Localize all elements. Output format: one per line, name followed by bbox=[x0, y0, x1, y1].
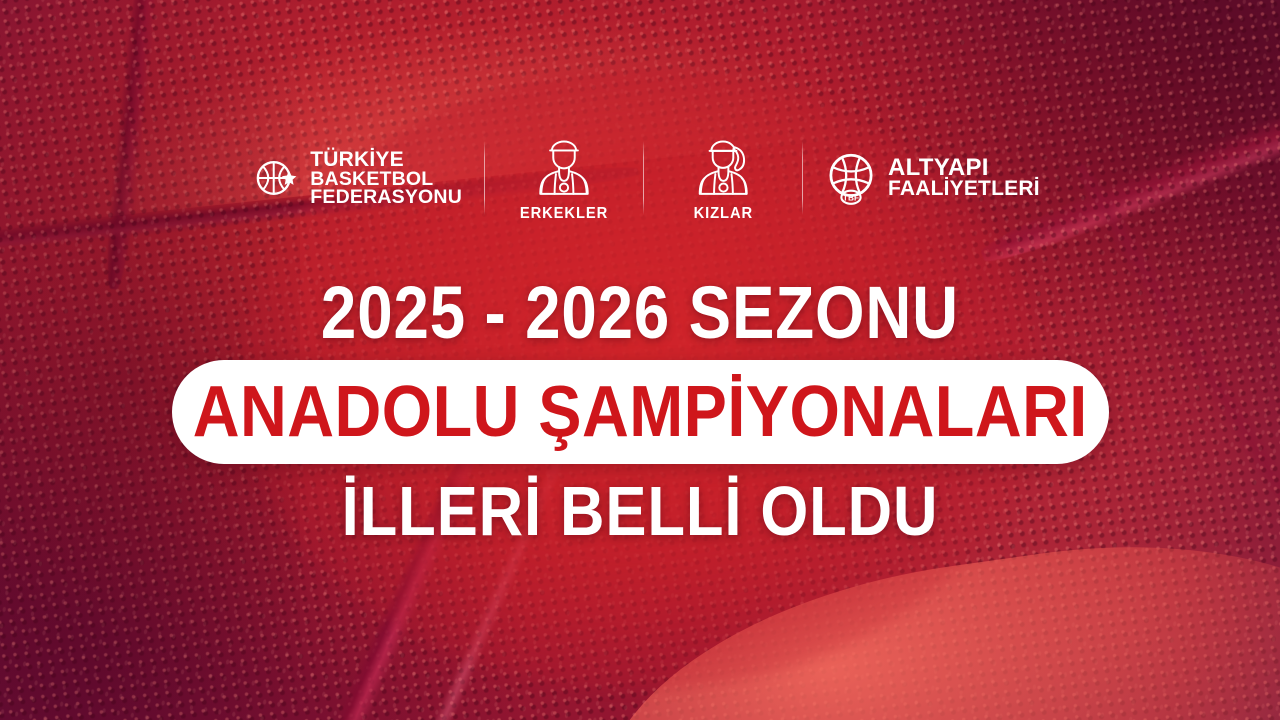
subtitle: İLLERİ BELLİ OLDU bbox=[342, 476, 939, 546]
category-label-erkekler: ERKEKLER bbox=[520, 205, 608, 223]
girl-player-icon bbox=[688, 133, 758, 201]
category-erkekler[interactable]: ERKEKLER bbox=[485, 133, 643, 223]
federation-line-1: TÜRKİYE bbox=[310, 150, 462, 170]
program-line-2: FAALİYETLERİ bbox=[888, 179, 1040, 198]
federation-line-3: FEDERASYONU bbox=[310, 188, 462, 206]
event-title-pill: ANADOLU ŞAMPİYONALARI bbox=[172, 360, 1109, 464]
tbf-crescent-basketball-logo-icon bbox=[242, 149, 300, 207]
promo-banner: TÜRKİYE BASKETBOL FEDERASYONU bbox=[0, 0, 1280, 720]
program-logo-lockup: TBF ALTYAPI FAALİYETLERİ bbox=[803, 150, 1060, 206]
program-line-1: ALTYAPI bbox=[888, 157, 1040, 179]
season-title: 2025 - 2026 SEZONU bbox=[321, 276, 959, 350]
federation-logo-text: TÜRKİYE BASKETBOL FEDERASYONU bbox=[310, 150, 462, 206]
category-kizlar[interactable]: KIZLAR bbox=[644, 133, 802, 223]
tbf-badge-text: TBF bbox=[843, 192, 859, 202]
headline-block: 2025 - 2026 SEZONU ANADOLU ŞAMPİYONALARI… bbox=[0, 276, 1280, 546]
boy-player-icon bbox=[529, 133, 599, 201]
header-logo-row: TÜRKİYE BASKETBOL FEDERASYONU bbox=[0, 126, 1280, 230]
category-label-kizlar: KIZLAR bbox=[693, 205, 752, 223]
program-logo-text: ALTYAPI FAALİYETLERİ bbox=[888, 157, 1040, 198]
event-title: ANADOLU ŞAMPİYONALARI bbox=[192, 376, 1087, 448]
altyapi-basketball-logo-icon: TBF bbox=[823, 150, 879, 206]
federation-logo-lockup: TÜRKİYE BASKETBOL FEDERASYONU bbox=[220, 149, 484, 207]
